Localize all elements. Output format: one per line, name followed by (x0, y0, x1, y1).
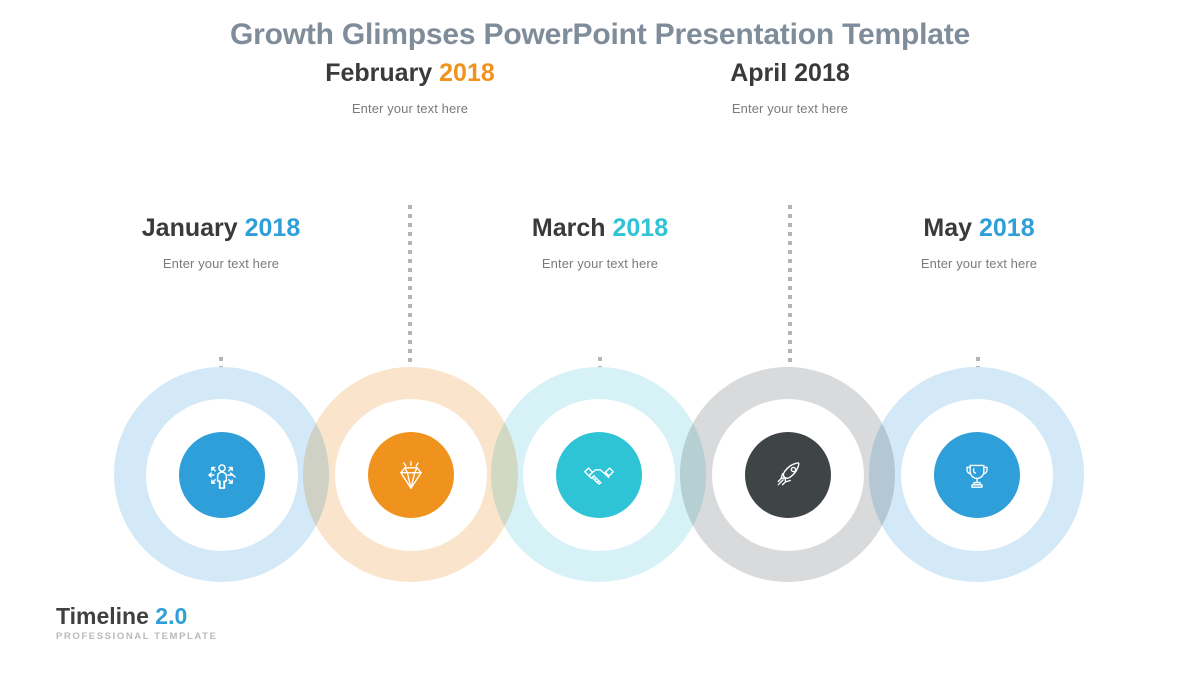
rocket-icon (766, 453, 810, 497)
timeline-node-february[interactable] (303, 367, 518, 582)
milestone-year-march: 2018 (612, 214, 668, 242)
milestone-subtext-may: Enter your text here (829, 256, 1129, 271)
person-growth-icon (200, 453, 244, 497)
milestone-subtext-march: Enter your text here (450, 256, 750, 271)
brand-name: Timeline (56, 603, 155, 629)
icon-badge-january[interactable] (179, 432, 265, 518)
milestone-month-january: January (142, 214, 245, 242)
timeline-node-march[interactable] (491, 367, 706, 582)
milestone-year-january: 2018 (245, 214, 301, 242)
milestone-year-april: 2018 (794, 59, 850, 87)
milestone-headline-february: February 2018 (260, 60, 560, 88)
milestone-headline-may: May 2018 (829, 215, 1129, 243)
icon-badge-march[interactable] (556, 432, 642, 518)
milestone-subtext-april: Enter your text here (640, 101, 940, 116)
page-title: Growth Glimpses PowerPoint Presentation … (0, 18, 1200, 52)
milestone-month-may: May (923, 214, 979, 242)
brand-title: Timeline 2.0 (56, 604, 218, 628)
connector-dotted-february (408, 205, 412, 387)
milestone-headline-april: April 2018 (640, 60, 940, 88)
timeline-circle-chain (0, 367, 1200, 582)
milestone-label-may: May 2018 Enter your text here (829, 215, 1129, 271)
milestone-label-april: April 2018 Enter your text here (640, 60, 940, 116)
milestone-label-march: March 2018 Enter your text here (450, 215, 750, 271)
milestone-month-march: March (532, 214, 613, 242)
icon-badge-april[interactable] (745, 432, 831, 518)
brand-version: 2.0 (155, 603, 187, 629)
handshake-icon (577, 453, 621, 497)
milestone-month-february: February (325, 59, 439, 87)
milestone-month-april: April (730, 59, 794, 87)
trophy-icon (955, 453, 999, 497)
milestone-subtext-january: Enter your text here (71, 256, 371, 271)
timeline-node-january[interactable] (114, 367, 329, 582)
connector-dotted-april (788, 205, 792, 387)
milestone-year-february: 2018 (439, 59, 495, 87)
timeline-node-april[interactable] (680, 367, 895, 582)
brand-lockup: Timeline 2.0 PROFESSIONAL TEMPLATE (56, 604, 218, 642)
milestone-label-february: February 2018 Enter your text here (260, 60, 560, 116)
icon-badge-may[interactable] (934, 432, 1020, 518)
milestone-subtext-february: Enter your text here (260, 101, 560, 116)
brand-tagline: PROFESSIONAL TEMPLATE (56, 631, 218, 642)
milestone-headline-january: January 2018 (71, 215, 371, 243)
timeline-node-may[interactable] (869, 367, 1084, 582)
milestone-year-may: 2018 (979, 214, 1035, 242)
slide-canvas: Growth Glimpses PowerPoint Presentation … (0, 0, 1200, 675)
milestone-label-january: January 2018 Enter your text here (71, 215, 371, 271)
milestone-headline-march: March 2018 (450, 215, 750, 243)
diamond-icon (389, 453, 433, 497)
icon-badge-february[interactable] (368, 432, 454, 518)
